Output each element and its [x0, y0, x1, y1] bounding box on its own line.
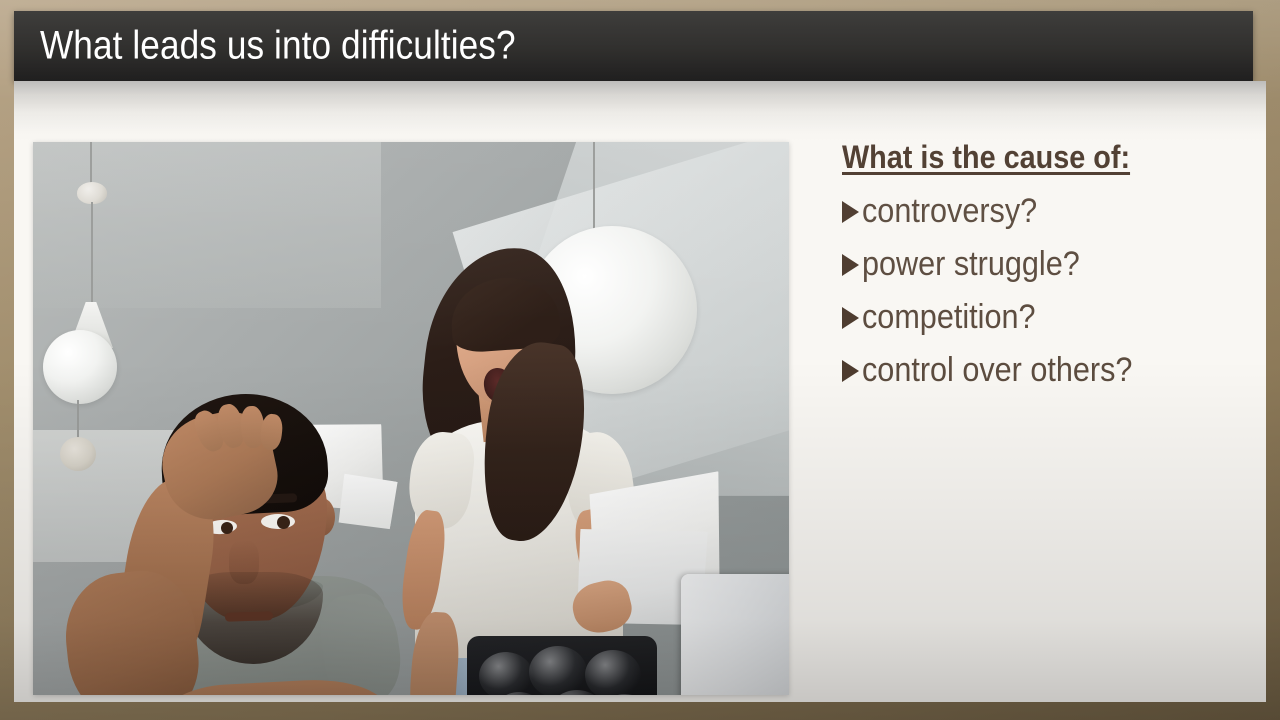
list-item-label: power struggle? [862, 247, 1080, 283]
pendant-lamp-globe [43, 330, 117, 404]
list-item-label: control over others? [862, 353, 1132, 389]
chair-tuft [479, 652, 533, 695]
pendant-lamp-cord [593, 142, 595, 232]
photo-wall-soffit [33, 142, 381, 308]
panel-top-shadow [14, 81, 1266, 141]
cause-heading: What is the cause of: [842, 139, 1202, 176]
slide-frame: What leads us into difficulties? [0, 0, 1280, 720]
triangle-bullet-icon [842, 254, 859, 276]
list-item-label: competition? [862, 300, 1036, 336]
triangle-bullet-icon [842, 360, 859, 382]
conflict-photo [33, 142, 789, 695]
triangle-bullet-icon [842, 307, 859, 329]
chair-tuft [529, 646, 587, 695]
slide-title: What leads us into difficulties? [40, 24, 516, 69]
list-item[interactable]: control over others? [842, 348, 1242, 393]
list-item[interactable]: power struggle? [842, 242, 1242, 287]
laptop-lid [681, 574, 789, 695]
list-item[interactable]: competition? [842, 295, 1242, 340]
triangle-bullet-icon [842, 201, 859, 223]
slide-content-panel: What is the cause of: controversy? power… [14, 81, 1266, 702]
slide-title-bar: What leads us into difficulties? [14, 11, 1253, 81]
chair-tuft [585, 650, 641, 695]
list-item-label: controversy? [862, 194, 1037, 230]
office-chair [467, 636, 657, 695]
list-item[interactable]: controversy? [842, 189, 1242, 234]
pendant-lamp-cord [77, 400, 79, 442]
man-mouth [225, 611, 273, 622]
pendant-lamp-small-globe [60, 437, 96, 471]
pendant-lamp-cord [91, 202, 93, 307]
cause-list-block: What is the cause of: controversy? power… [842, 139, 1242, 401]
man-pupil-right [277, 516, 290, 529]
pendant-lamp-cap [77, 182, 107, 204]
man-pupil-left [221, 522, 233, 534]
